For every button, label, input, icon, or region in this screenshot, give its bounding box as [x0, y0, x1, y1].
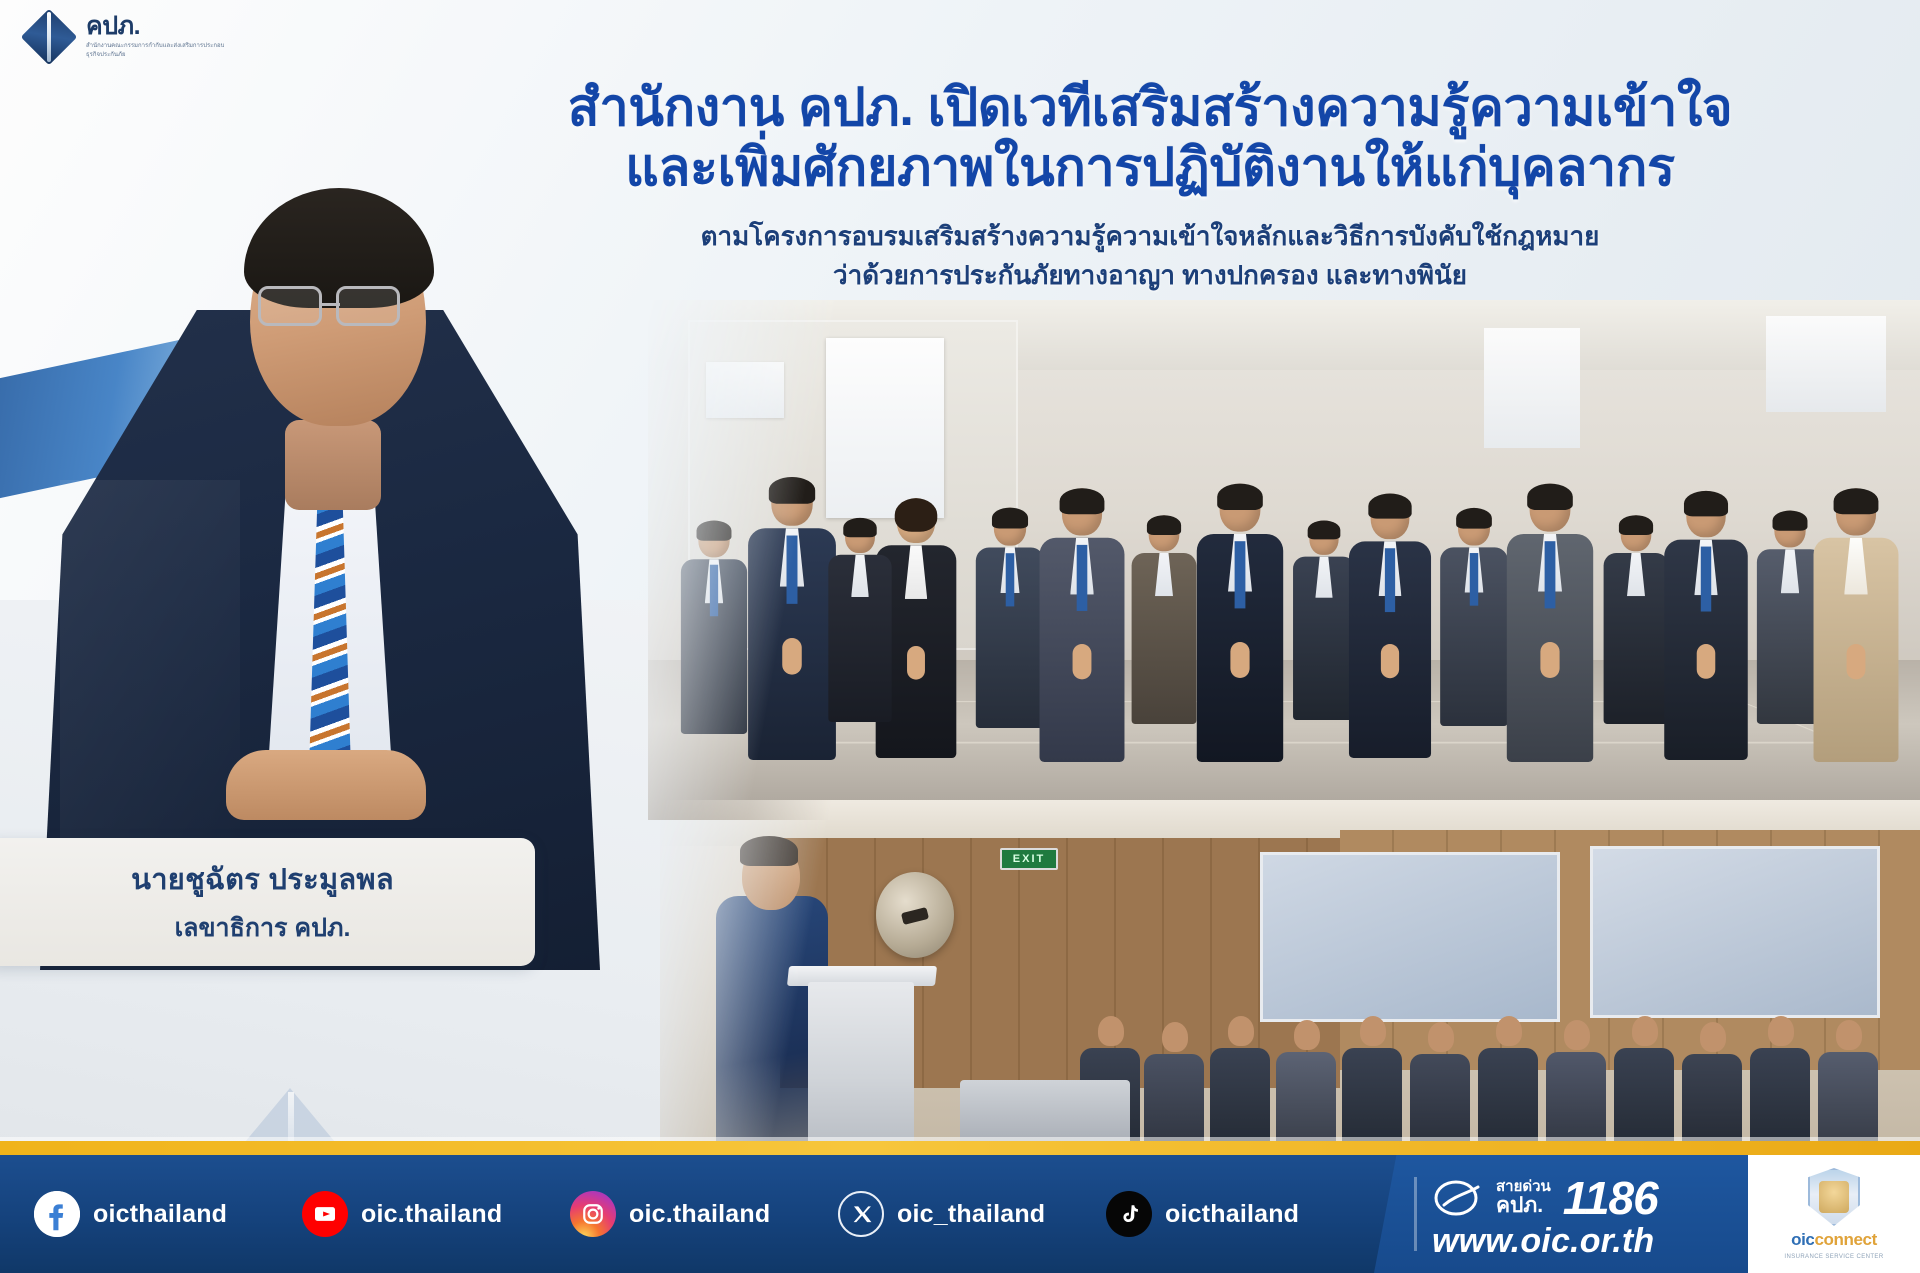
audience-head: [1098, 1016, 1124, 1046]
exit-sign: EXIT: [1000, 848, 1058, 870]
crowd-person-head: [1220, 484, 1261, 532]
crowd-person-tie: [787, 536, 798, 604]
crowd-person: [1604, 515, 1669, 724]
podium-lectern: [808, 982, 914, 1162]
crowd-person-thumbsup: [1381, 644, 1399, 678]
hotline-top-row: สายด่วน คปภ. 1186: [1432, 1171, 1658, 1225]
crowd-person-hair: [843, 518, 876, 537]
crowd-person-body: [681, 559, 747, 734]
crowd-person-hair: [1368, 494, 1411, 519]
crowd-person: [1349, 494, 1431, 758]
shield-icon: [1808, 1168, 1860, 1226]
oic-connect-wordmark: oicconnect: [1791, 1230, 1877, 1250]
logo-abbreviation: คปภ.: [86, 14, 236, 39]
crowd-person: [748, 477, 836, 760]
audience-head: [1632, 1016, 1658, 1046]
portrait-glasses-left: [258, 286, 322, 326]
website-url[interactable]: www.oic.or.th: [1432, 1222, 1654, 1261]
social-facebook[interactable]: oicthailand: [34, 1191, 302, 1237]
portrait-glasses-bridge: [320, 303, 340, 306]
crowd-person-body: [1507, 534, 1593, 762]
social-tiktok[interactable]: oicthailand: [1106, 1191, 1374, 1237]
audience-head: [1294, 1020, 1320, 1050]
crowd-person-thumbsup: [782, 638, 802, 675]
crowd-person-hair: [1619, 515, 1653, 535]
instagram-handle[interactable]: oic.thailand: [629, 1200, 770, 1229]
presentation-screen-left: [1260, 852, 1560, 1022]
headline-block: สำนักงาน คปภ. เปิดเวทีเสริมสร้างความรู้ค…: [415, 78, 1885, 295]
crowd-person-body: [976, 548, 1044, 729]
crowd-person-head: [1774, 511, 1805, 548]
crowd-person-hair: [1684, 491, 1728, 517]
logo-text-block: คปภ. สำนักงานคณะกรรมการกำกับและส่งเสริมก…: [86, 14, 236, 59]
crowd-person-shirt: [851, 555, 869, 597]
crowd-person: [1664, 491, 1748, 760]
presentation-screen-right: [1590, 846, 1880, 1018]
crowd-person: [1040, 488, 1125, 762]
crowd-person: [1132, 515, 1197, 724]
crowd-person-shirt: [905, 545, 927, 599]
shield-emblem: [1819, 1181, 1849, 1213]
crowd-person: [1197, 484, 1283, 762]
social-youtube[interactable]: oic.thailand: [302, 1191, 570, 1237]
speaker-name: นายชูฉัตร ประมูลพล: [131, 856, 394, 902]
podium-speaker-hair: [740, 836, 798, 866]
gold-accent-strip: [0, 1141, 1920, 1155]
crowd-person-tie: [1006, 553, 1015, 606]
crowd-person-head: [771, 477, 812, 526]
crowd-person: [1293, 520, 1355, 720]
crowd-person-hair: [697, 521, 732, 541]
crowd-person-head: [1371, 494, 1410, 540]
crowd-person-body: [1440, 547, 1508, 726]
tiktok-icon[interactable]: [1106, 1191, 1152, 1237]
hotline-block[interactable]: สายด่วน คปภ. 1186 www.oic.or.th: [1374, 1155, 1748, 1273]
crowd-person-body: [1197, 534, 1283, 762]
crowd-person-body: [748, 528, 836, 760]
hotline-label-line2: คปภ.: [1496, 1195, 1551, 1217]
crowd-person-hair: [1456, 508, 1492, 529]
oic-diamond-icon: [22, 10, 76, 64]
audience-head: [1836, 1020, 1862, 1050]
crowd-person-thumbsup: [1847, 644, 1866, 679]
oic-connect-logo[interactable]: oicconnect INSURANCE SERVICE CENTER: [1748, 1155, 1920, 1273]
oic-connect-word-oic: oic: [1791, 1230, 1814, 1249]
headline-line-2: และเพิ่มศักยภาพในการปฏิบัติงานให้แก่บุคล…: [415, 138, 1885, 198]
portrait-glasses-right: [336, 286, 400, 326]
oic-connect-tagline: INSURANCE SERVICE CENTER: [1784, 1254, 1883, 1260]
crowd-person-tie: [1545, 541, 1556, 608]
subheadline-line-1: ตามโครงการอบรมเสริมสร้างความรู้ความเข้าใ…: [415, 217, 1885, 256]
crowd-person-shirt: [1781, 549, 1799, 593]
crowd-person-hair: [769, 477, 815, 504]
group-photo: [648, 300, 1920, 820]
crowd-person-head: [897, 498, 935, 543]
crowd-person-tie: [710, 565, 718, 617]
crowd-person-head: [845, 518, 875, 553]
audience-head: [1700, 1022, 1726, 1052]
phone-icon: [1432, 1175, 1486, 1221]
crowd-person-head: [1836, 488, 1876, 535]
social-x-twitter[interactable]: oic_thailand: [838, 1191, 1106, 1237]
logo-subtitle: สำนักงานคณะกรรมการกำกับและส่งเสริมการประ…: [86, 42, 236, 59]
crowd-person-head: [1062, 488, 1102, 535]
crowd-person: [1814, 488, 1899, 762]
social-links: oicthailand oic.thailand oic.thailand: [0, 1191, 1374, 1237]
headline-line-1: สำนักงาน คปภ. เปิดเวทีเสริมสร้างความรู้ค…: [415, 78, 1885, 138]
crowd-person-body: [1132, 553, 1197, 724]
crowd-person-tie: [1385, 548, 1395, 612]
facebook-icon[interactable]: [34, 1191, 80, 1237]
crowd-person: [681, 521, 747, 734]
youtube-handle[interactable]: oic.thailand: [361, 1200, 502, 1229]
oic-connect-word-connect: connect: [1814, 1230, 1876, 1249]
hotline-number[interactable]: 1186: [1563, 1171, 1658, 1225]
crowd-person-body: [1814, 538, 1899, 762]
instagram-icon[interactable]: [570, 1191, 616, 1237]
crowd-person-hair: [1147, 515, 1181, 535]
crowd-person-shirt: [1627, 553, 1645, 596]
x-twitter-handle[interactable]: oic_thailand: [897, 1200, 1045, 1229]
crowd-person-body: [828, 555, 891, 722]
crowd-person-body: [1040, 538, 1125, 762]
crowd-person-head: [1149, 515, 1180, 551]
tiktok-handle[interactable]: oicthailand: [1165, 1200, 1299, 1229]
crowd-person: [976, 508, 1044, 728]
crowd-person: [1440, 508, 1508, 726]
podium-photo: EXIT: [660, 800, 1920, 1168]
crowd-person-hair: [1834, 488, 1879, 514]
crowd-person-hair: [1527, 484, 1573, 510]
portrait-suit-highlight: [60, 480, 240, 900]
speaker-nameplate: นายชูฉัตร ประมูลพล เลขาธิการ คปภ.: [0, 838, 535, 966]
crowd-person-thumbsup: [1697, 644, 1716, 679]
crowd-person-body: [1293, 557, 1355, 720]
crowd-person-hair: [992, 508, 1028, 529]
audience-head: [1360, 1016, 1386, 1046]
crowd-person-hair: [1217, 484, 1263, 510]
hotline-label: สายด่วน คปภ.: [1496, 1179, 1551, 1217]
crowd-person-body: [1664, 540, 1748, 760]
crowd-person-head: [1530, 484, 1571, 532]
crowd-person-thumbsup: [1230, 642, 1249, 678]
crowd-person-body: [1349, 541, 1431, 758]
crowd-person-head: [1686, 491, 1725, 537]
audience-head: [1428, 1022, 1454, 1052]
poster-canvas: คปภ. สำนักงานคณะกรรมการกำกับและส่งเสริมก…: [0, 0, 1920, 1273]
hotline-label-line1: สายด่วน: [1496, 1179, 1551, 1195]
crowd-person-thumbsup: [907, 646, 925, 680]
crowd-person-hair: [1773, 511, 1808, 531]
portrait-neck: [285, 420, 381, 510]
crowd-person: [828, 518, 891, 722]
crowd-person: [1507, 484, 1593, 762]
footer-bar: oicthailand oic.thailand oic.thailand: [0, 1155, 1920, 1273]
crowd-person-tie: [1077, 545, 1088, 611]
crowd-person-body: [1604, 553, 1669, 724]
crowd-person-hair: [1308, 520, 1341, 539]
crowd-person-tie: [1701, 547, 1711, 612]
facebook-handle[interactable]: oicthailand: [93, 1200, 227, 1229]
crowd-person-head: [994, 508, 1026, 546]
group-photo-crowd: [648, 300, 1920, 820]
crowd-person-shirt: [1315, 557, 1332, 598]
crowd-person-hair: [1060, 488, 1105, 514]
crowd-person-head: [698, 521, 729, 558]
hotline-divider: [1414, 1177, 1417, 1251]
social-instagram[interactable]: oic.thailand: [570, 1191, 838, 1237]
crowd-person-hair: [895, 498, 938, 532]
crowd-person-shirt: [1155, 553, 1173, 596]
youtube-icon[interactable]: [302, 1191, 348, 1237]
crowd-person-thumbsup: [1540, 642, 1559, 678]
audience-head: [1496, 1016, 1522, 1046]
crowd-person-head: [1621, 515, 1652, 551]
oic-logo: คปภ. สำนักงานคณะกรรมการกำกับและส่งเสริมก…: [22, 10, 236, 64]
portrait-hands: [226, 750, 426, 820]
audience-head: [1228, 1016, 1254, 1046]
audience-head: [1768, 1016, 1794, 1046]
audience-head: [1162, 1022, 1188, 1052]
decorative-gong: [876, 872, 954, 958]
subheadline-block: ตามโครงการอบรมเสริมสร้างความรู้ความเข้าใ…: [415, 217, 1885, 295]
crowd-person-head: [1309, 520, 1338, 554]
crowd-person-tie: [1470, 553, 1478, 606]
crowd-person-tie: [1235, 541, 1246, 608]
crowd-person-shirt: [1844, 538, 1868, 595]
audience-head: [1564, 1020, 1590, 1050]
crowd-person-thumbsup: [1073, 644, 1092, 679]
subheadline-line-2: ว่าด้วยการประกันภัยทางอาญา ทางปกครอง และ…: [415, 256, 1885, 295]
crowd-person-head: [1458, 508, 1490, 546]
diamond-pillar: [47, 12, 51, 62]
speaker-role: เลขาธิการ คปภ.: [175, 908, 351, 948]
x-twitter-icon[interactable]: [838, 1191, 884, 1237]
